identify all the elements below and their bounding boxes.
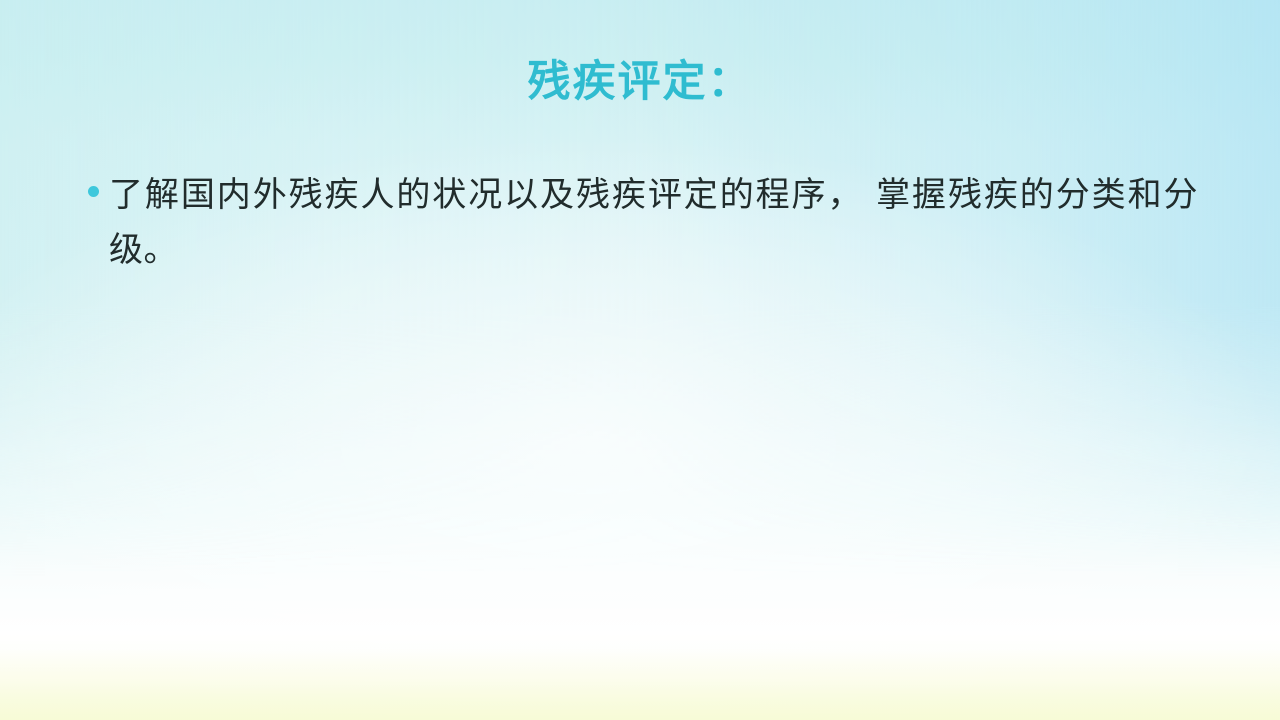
bullet-dot-icon xyxy=(88,186,99,197)
bullet-list-item: 了解国内外残疾人的状况以及残疾评定的程序， 掌握残疾的分类和分级。 xyxy=(88,168,1198,278)
slide-title: 残疾评定： xyxy=(0,58,1280,107)
bullet-item-text: 了解国内外残疾人的状况以及残疾评定的程序， 掌握残疾的分类和分级。 xyxy=(109,168,1198,278)
presentation-slide: 残疾评定： 了解国内外残疾人的状况以及残疾评定的程序， 掌握残疾的分类和分级。 xyxy=(0,0,1280,720)
slide-content: 残疾评定： 了解国内外残疾人的状况以及残疾评定的程序， 掌握残疾的分类和分级。 xyxy=(0,0,1280,720)
slide-body: 了解国内外残疾人的状况以及残疾评定的程序， 掌握残疾的分类和分级。 xyxy=(88,168,1198,278)
